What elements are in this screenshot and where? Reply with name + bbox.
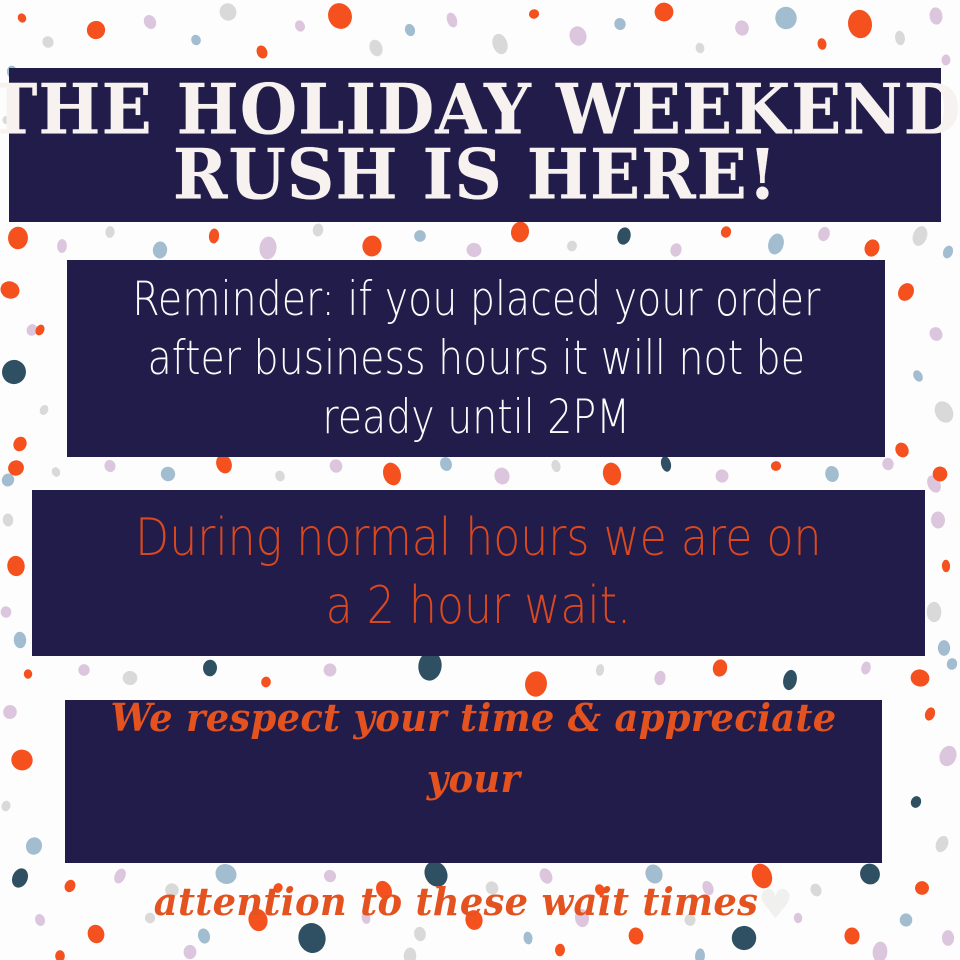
confetti-dot — [9, 866, 31, 890]
confetti-dot — [492, 466, 511, 486]
confetti-dot — [141, 13, 158, 31]
confetti-dot — [860, 661, 872, 676]
confetti-dot — [57, 239, 68, 253]
confetti-dot — [816, 225, 831, 242]
confetti-dot — [942, 560, 951, 573]
confetti-dot — [24, 669, 33, 679]
confetti-dot — [720, 225, 733, 239]
confetti-dot — [9, 747, 36, 773]
confetti-dot — [695, 42, 706, 54]
thank-you-text: We respect your time & appreciate your a… — [93, 625, 854, 938]
white-heart-icon: ♥ — [758, 881, 793, 928]
confetti-dot — [824, 465, 840, 483]
confetti-dot — [274, 469, 287, 483]
confetti-dot — [438, 455, 453, 472]
confetti-dot — [770, 460, 782, 472]
confetti-dot — [941, 244, 955, 260]
confetti-dot — [601, 461, 624, 488]
confetti-dot — [857, 861, 883, 887]
confetti-dot — [2, 513, 14, 527]
confetti-dot — [931, 398, 957, 426]
headline-banner: THE HOLIDAY WEEKEND RUSH IS HERE! — [9, 68, 941, 222]
confetti-dot — [938, 640, 950, 656]
confetti-dot — [669, 242, 683, 258]
thank-you-line-1: We respect your time & appreciate your — [110, 695, 836, 802]
confetti-dot — [881, 457, 894, 471]
confetti-dot — [254, 44, 269, 61]
confetti-dot — [34, 323, 47, 337]
confetti-dot — [566, 240, 578, 253]
confetti-dot — [945, 657, 958, 671]
confetti-dot — [909, 667, 931, 688]
confetti-dot — [926, 602, 941, 623]
confetti-dot — [567, 24, 589, 47]
confetti-dot — [937, 743, 960, 768]
confetti-dot — [50, 466, 61, 478]
confetti-dot — [0, 356, 30, 388]
confetti-dot — [0, 606, 12, 618]
confetti-dot — [38, 404, 50, 417]
confetti-dot — [445, 11, 459, 29]
confetti-dot — [16, 12, 28, 24]
confetti-dot — [550, 459, 562, 473]
confetti-dot — [103, 458, 118, 473]
confetti-dot — [6, 555, 25, 577]
confetti-dot — [734, 19, 750, 37]
confetti-dot — [63, 878, 78, 894]
confetti-dot — [40, 34, 55, 50]
confetti-dot — [413, 229, 427, 243]
confetti-dot — [78, 664, 90, 676]
confetti-dot — [13, 631, 27, 648]
confetti-dot — [942, 930, 954, 946]
confetti-dot — [894, 30, 906, 46]
confetti-dot — [911, 369, 924, 384]
confetti-dot — [659, 455, 672, 472]
confetti-dot — [872, 941, 888, 960]
confetti-dot — [714, 468, 729, 484]
confetti-dot — [312, 223, 324, 237]
confetti-dot — [33, 913, 46, 928]
confetti-dot — [941, 54, 950, 65]
promotional-poster: THE HOLIDAY WEEKEND RUSH IS HERE! Remind… — [0, 0, 960, 960]
confetti-dot — [24, 835, 45, 857]
confetti-dot — [465, 242, 482, 259]
confetti-dot — [927, 325, 945, 344]
confetti-dot — [0, 471, 16, 488]
confetti-dot — [895, 280, 917, 304]
confetti-dot — [773, 5, 798, 31]
confetti-dot — [403, 22, 417, 37]
confetti-dot — [0, 278, 22, 301]
confetti-dot — [2, 703, 19, 720]
confetti-dot — [159, 465, 178, 484]
confetti-dot — [380, 460, 404, 487]
confetti-dot — [817, 38, 828, 51]
confetti-dot — [258, 236, 278, 261]
headline-line-2: RUSH IS HERE! — [173, 141, 778, 209]
confetti-dot — [695, 948, 706, 960]
confetti-dot — [932, 466, 949, 483]
confetti-dot — [208, 228, 220, 244]
thank-you-line-2: attention to these wait times — [154, 879, 758, 924]
confetti-dot — [913, 879, 931, 896]
confetti-dot — [55, 950, 65, 960]
confetti-dot — [152, 241, 168, 259]
confetti-dot — [766, 232, 787, 257]
confetti-dot — [367, 38, 385, 58]
confetti-dot — [653, 1, 676, 24]
confetti-dot — [555, 944, 566, 957]
confetti-dot — [910, 224, 930, 248]
confetti-dot — [6, 458, 27, 479]
confetti-dot — [509, 220, 531, 244]
thank-you-banner: We respect your time & appreciate your a… — [65, 700, 882, 863]
confetti-dot — [11, 434, 29, 453]
confetti-dot — [324, 0, 356, 32]
confetti-dot — [613, 17, 627, 32]
confetti-dot — [361, 234, 383, 258]
confetti-dot — [616, 226, 633, 246]
confetti-dot — [923, 706, 937, 722]
confetti-dot — [929, 7, 944, 26]
confetti-dot — [0, 800, 12, 813]
confetti-dot — [25, 322, 39, 337]
confetti-dot — [293, 19, 306, 33]
confetti-dot — [893, 440, 911, 459]
confetti-dot — [490, 32, 510, 56]
confetti-dot — [189, 33, 202, 47]
confetti-dot — [328, 458, 344, 475]
confetti-dot — [931, 511, 946, 529]
confetti-dot — [909, 795, 923, 810]
confetti-dot — [862, 237, 882, 258]
confetti-dot — [924, 473, 943, 495]
reminder-text: Reminder: if you placed your order after… — [85, 270, 867, 448]
confetti-dot — [84, 18, 109, 43]
wait-notice-text: During normal hours we are on a 2 hour w… — [45, 505, 913, 640]
confetti-dot — [933, 834, 951, 854]
reminder-banner: Reminder: if you placed your order after… — [67, 260, 885, 457]
confetti-dot — [183, 945, 196, 959]
confetti-dot — [900, 913, 913, 927]
confetti-dot — [217, 1, 240, 24]
confetti-dot — [528, 8, 541, 20]
confetti-dot — [105, 226, 115, 238]
confetti-dot — [846, 8, 874, 40]
confetti-dot — [8, 226, 29, 249]
confetti-dot — [403, 947, 416, 960]
